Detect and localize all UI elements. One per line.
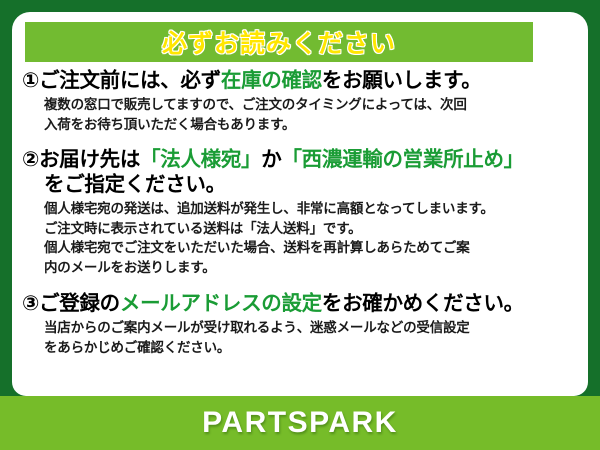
notice-items-list: ①ご注文前には、必ず在庫の確認をお願いします。 複数の窓口で販売してますので、ご… xyxy=(12,68,588,358)
title-banner: 必ずお読みください xyxy=(25,22,533,62)
notice-item-2-body: 個人様宅宛の発送は、追加送料が発生し、非常に高額となってしまいます。 ご注文時に… xyxy=(44,199,580,277)
notice-item-3-body-line-2: をあらかじめご確認ください。 xyxy=(44,338,580,358)
notice-panel: 必ずお読みください ①ご注文前には、必ず在庫の確認をお願いします。 複数の窓口で… xyxy=(12,12,588,396)
brand-logo: PARTSPARK xyxy=(202,406,398,440)
notice-item-2-heading-highlight-2: 「西濃運輸の営業所止め」 xyxy=(281,148,523,171)
notice-item-2: ②お届け先は「法人様宛」か「西濃運輸の営業所止め」 をご指定ください。 個人様宅… xyxy=(12,147,588,277)
notice-item-1-body: 複数の窓口で販売してますので、ご注文のタイミングによっては、次回 入荷をお待ち頂… xyxy=(44,95,580,134)
notice-item-1-marker: ① xyxy=(22,69,39,92)
notice-item-1-heading: ①ご注文前には、必ず在庫の確認をお願いします。 xyxy=(22,68,580,93)
notice-item-2-marker: ② xyxy=(22,148,39,171)
notice-item-3-heading-pre: ご登録の xyxy=(39,292,120,315)
notice-item-3-heading-post: をお確かめください。 xyxy=(322,292,524,315)
notice-item-2-body-line-1: 個人様宅宛の発送は、追加送料が発生し、非常に高額となってしまいます。 xyxy=(44,199,580,219)
notice-item-2-heading-line-2: をご指定ください。 xyxy=(44,172,580,197)
notice-item-3-body: 当店からのご案内メールが受け取れるよう、迷惑メールなどの受信設定 をあらかじめご… xyxy=(44,318,580,357)
notice-item-2-heading-highlight: 「法人様宛」 xyxy=(140,148,261,171)
notice-item-1: ①ご注文前には、必ず在庫の確認をお願いします。 複数の窓口で販売してますので、ご… xyxy=(12,68,588,134)
notice-item-1-body-line-2: 入荷をお待ち頂いただく場合もあります。 xyxy=(44,115,580,135)
notice-item-2-body-line-2: ご注文時に表示されている送料は「法人送料」です。 xyxy=(44,219,580,239)
page-title: 必ずお読みください xyxy=(162,24,396,60)
notice-item-3-heading: ③ご登録のメールアドレスの設定をお確かめください。 xyxy=(22,291,580,316)
footer-bar: PARTSPARK xyxy=(0,396,600,450)
notice-item-1-heading-post: をお願いします。 xyxy=(322,69,482,92)
notice-item-1-body-line-1: 複数の窓口で販売してますので、ご注文のタイミングによっては、次回 xyxy=(44,95,580,115)
notice-item-1-heading-highlight: 在庫の確認 xyxy=(221,69,322,92)
notice-item-3-marker: ③ xyxy=(22,292,39,315)
notice-item-3-body-line-1: 当店からのご案内メールが受け取れるよう、迷惑メールなどの受信設定 xyxy=(44,318,580,338)
notice-card: 必ずお読みください ①ご注文前には、必ず在庫の確認をお願いします。 複数の窓口で… xyxy=(0,0,600,450)
notice-item-2-heading-pre: お届け先は xyxy=(39,148,140,171)
notice-item-2-heading-mid: か xyxy=(261,148,281,171)
notice-item-3: ③ご登録のメールアドレスの設定をお確かめください。 当店からのご案内メールが受け… xyxy=(12,291,588,357)
notice-item-2-body-line-3: 個人様宅宛でご注文をいただいた場合、送料を再計算しあらためてご案 xyxy=(44,238,580,258)
notice-item-3-heading-highlight: メールアドレスの設定 xyxy=(120,292,322,315)
notice-item-2-heading: ②お届け先は「法人様宛」か「西濃運輸の営業所止め」 xyxy=(22,147,580,172)
notice-item-2-body-line-4: 内のメールをお送りします。 xyxy=(44,258,580,278)
notice-item-1-heading-pre: ご注文前には、必ず xyxy=(39,69,221,92)
